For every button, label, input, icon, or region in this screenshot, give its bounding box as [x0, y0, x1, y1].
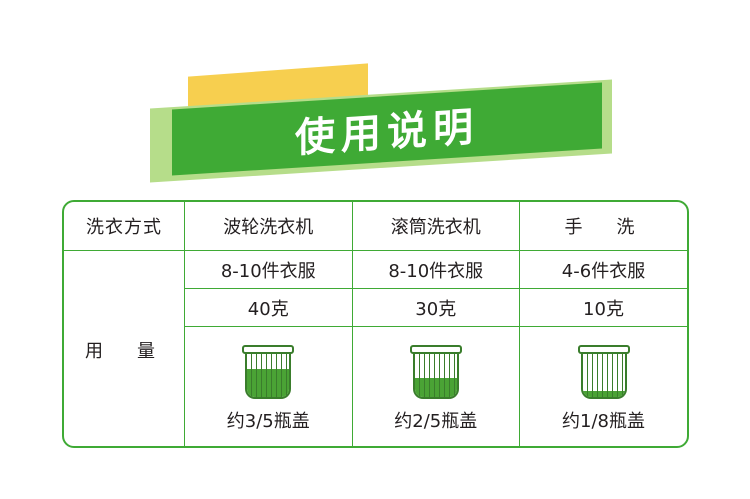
cap-cell-hand: 约1/8瓶盖 — [520, 327, 688, 449]
header-banner: 使用说明 — [0, 58, 750, 178]
cap-rim-icon — [410, 345, 462, 354]
grams-drum: 30克 — [352, 289, 520, 327]
table-header-hand-wash: 手 洗 — [520, 202, 688, 251]
cap-cell-drum: 约2/5瓶盖 — [352, 327, 520, 449]
cap-ribs-icon — [583, 351, 625, 397]
bottle-cap-icon — [245, 343, 291, 399]
table-header-method: 洗衣方式 — [64, 202, 185, 251]
usage-instructions-table: 洗衣方式 波轮洗衣机 滚筒洗衣机 手 洗 用 量 8-10件衣服 8-10件衣服… — [62, 200, 689, 448]
cap-ribs-icon — [415, 351, 457, 397]
table-row-load: 用 量 8-10件衣服 8-10件衣服 4-6件衣服 — [64, 251, 687, 289]
cap-ribs-icon — [247, 351, 289, 397]
grams-pulsator: 40克 — [185, 289, 353, 327]
cap-rim-icon — [242, 345, 294, 354]
bottle-cap-icon — [581, 343, 627, 399]
bottle-cap-icon — [413, 343, 459, 399]
cap-rim-icon — [578, 345, 630, 354]
cap-caption-hand: 约1/8瓶盖 — [562, 407, 645, 433]
load-pulsator: 8-10件衣服 — [185, 251, 353, 289]
table-header-drum-washer: 滚筒洗衣机 — [352, 202, 520, 251]
cap-cell-pulsator: 约3/5瓶盖 — [185, 327, 353, 449]
cap-caption-pulsator: 约3/5瓶盖 — [227, 407, 310, 433]
load-drum: 8-10件衣服 — [352, 251, 520, 289]
table-header-pulsator-washer: 波轮洗衣机 — [185, 202, 353, 251]
load-hand: 4-6件衣服 — [520, 251, 688, 289]
table-header-row: 洗衣方式 波轮洗衣机 滚筒洗衣机 手 洗 — [64, 202, 687, 251]
grams-hand: 10克 — [520, 289, 688, 327]
cap-caption-drum: 约2/5瓶盖 — [394, 407, 477, 433]
row-label-usage-amount: 用 量 — [64, 251, 185, 449]
